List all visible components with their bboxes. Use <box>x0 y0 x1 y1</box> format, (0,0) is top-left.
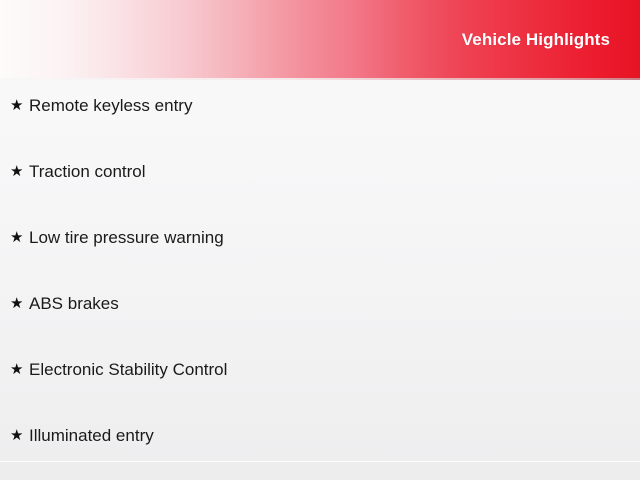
vehicle-highlights-slide: Vehicle Highlights ★ Remote keyless entr… <box>0 0 640 480</box>
star-bullet-icon: ★ <box>10 161 29 183</box>
star-bullet-icon: ★ <box>10 359 29 381</box>
star-bullet-icon: ★ <box>10 425 29 447</box>
page-title: Vehicle Highlights <box>462 31 610 48</box>
footer-strip <box>0 462 640 480</box>
star-bullet-icon: ★ <box>10 227 29 249</box>
vehicle-highlights-list: ★ Remote keyless entry ★ Traction contro… <box>0 95 640 480</box>
list-item: ★ ABS brakes <box>0 293 640 359</box>
list-item-label: Remote keyless entry <box>29 95 192 117</box>
star-bullet-icon: ★ <box>10 293 29 315</box>
list-item-label: Electronic Stability Control <box>29 359 227 381</box>
list-item: ★ Electronic Stability Control <box>0 359 640 425</box>
list-item: ★ Traction control <box>0 161 640 227</box>
header-banner: Vehicle Highlights <box>0 0 640 78</box>
star-bullet-icon: ★ <box>10 95 29 117</box>
list-item-label: Illuminated entry <box>29 425 154 447</box>
list-item-label: ABS brakes <box>29 293 119 315</box>
list-item: ★ Remote keyless entry <box>0 95 640 161</box>
list-item-label: Traction control <box>29 161 146 183</box>
list-item: ★ Low tire pressure warning <box>0 227 640 293</box>
header-underline <box>0 78 640 80</box>
list-item-label: Low tire pressure warning <box>29 227 224 249</box>
